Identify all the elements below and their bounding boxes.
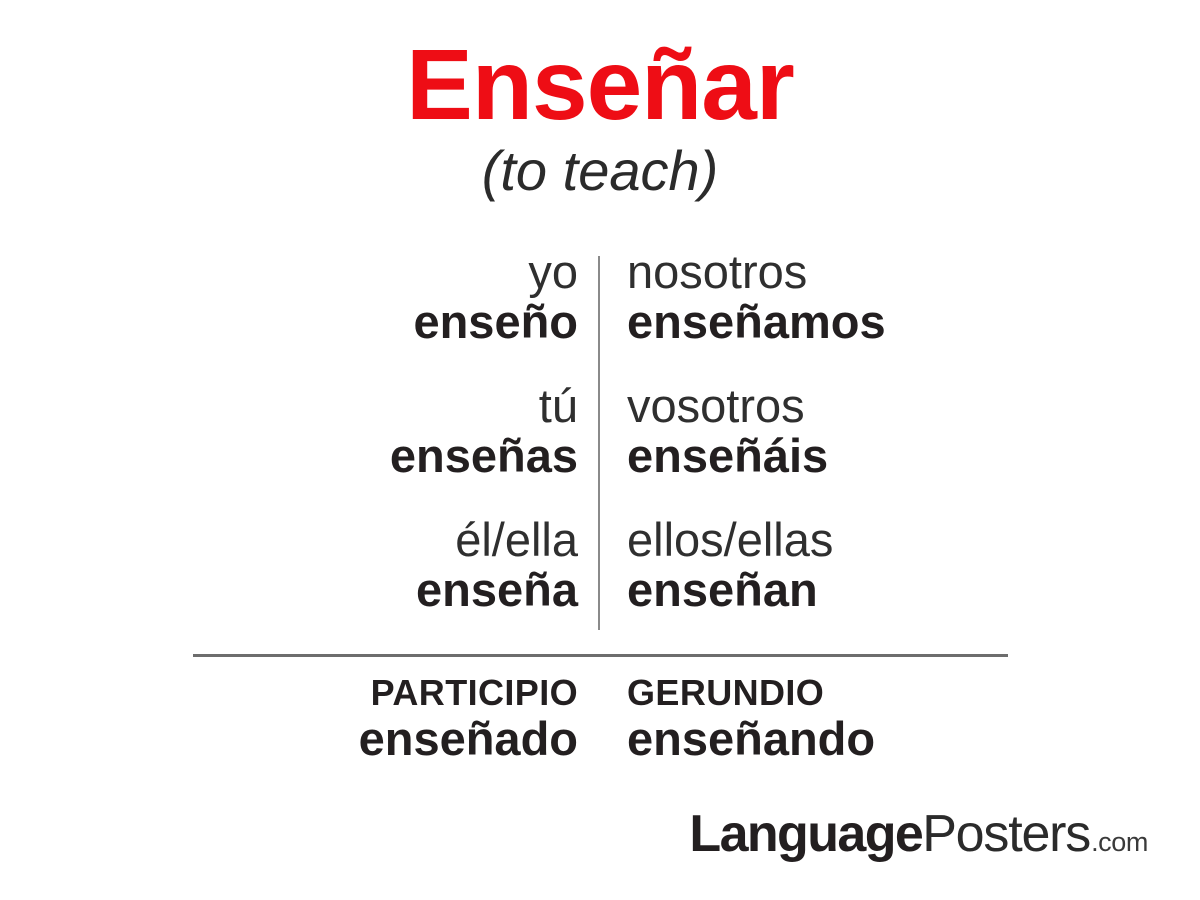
conjugated-form: enseño (212, 296, 578, 349)
conjugation-row: él/ella enseña ellos/ellas enseñan (0, 514, 1200, 648)
conjugation-cell-plural-3: ellos/ellas enseñan (600, 514, 988, 616)
column-divider (598, 256, 600, 630)
conjugation-row: tú enseñas vosotros enseñáis (0, 380, 1200, 514)
conjugation-cell-singular-1: yo enseño (212, 246, 600, 348)
verb-translation: (to teach) (0, 142, 1200, 201)
conjugation-cell-plural-2: vosotros enseñáis (600, 380, 988, 482)
pronoun-label: nosotros (627, 246, 988, 299)
conjugation-cell-singular-3: él/ella enseña (212, 514, 600, 616)
conjugation-cell-singular-2: tú enseñas (212, 380, 600, 482)
pronoun-label: ellos/ellas (627, 514, 988, 567)
conjugation-grid: yo enseño nosotros enseñamos tú enseñas … (0, 246, 1200, 648)
conjugation-row: yo enseño nosotros enseñamos (0, 246, 1200, 380)
verb-forms-row: PARTICIPIO enseñado GERUNDIO enseñando (0, 672, 1200, 766)
pronoun-label: vosotros (627, 380, 988, 433)
conjugated-form: enseñamos (627, 296, 988, 349)
logo-word-posters: Posters (922, 808, 1090, 860)
participio-value: enseñado (212, 713, 578, 766)
pronoun-label: él/ella (212, 514, 578, 567)
gerundio-cell: GERUNDIO enseñando (600, 672, 988, 766)
participio-cell: PARTICIPIO enseñado (212, 672, 600, 766)
participio-label: PARTICIPIO (212, 672, 578, 714)
gerundio-label: GERUNDIO (627, 672, 988, 714)
pronoun-label: tú (212, 380, 578, 433)
conjugated-form: enseñas (212, 430, 578, 483)
site-logo[interactable]: Language Posters .com (689, 808, 1148, 860)
pronoun-label: yo (212, 246, 578, 299)
logo-word-language: Language (689, 808, 922, 860)
conjugation-cell-plural-1: nosotros enseñamos (600, 246, 988, 348)
conjugated-form: enseña (212, 564, 578, 617)
conjugated-form: enseñan (627, 564, 988, 617)
logo-tld: .com (1091, 829, 1148, 856)
conjugated-form: enseñáis (627, 430, 988, 483)
poster-canvas: Enseñar (to teach) yo enseño nosotros en… (0, 0, 1200, 900)
gerundio-value: enseñando (627, 713, 988, 766)
page-title: Enseñar (0, 34, 1200, 136)
title-block: Enseñar (to teach) (0, 34, 1200, 201)
section-divider (193, 654, 1008, 657)
